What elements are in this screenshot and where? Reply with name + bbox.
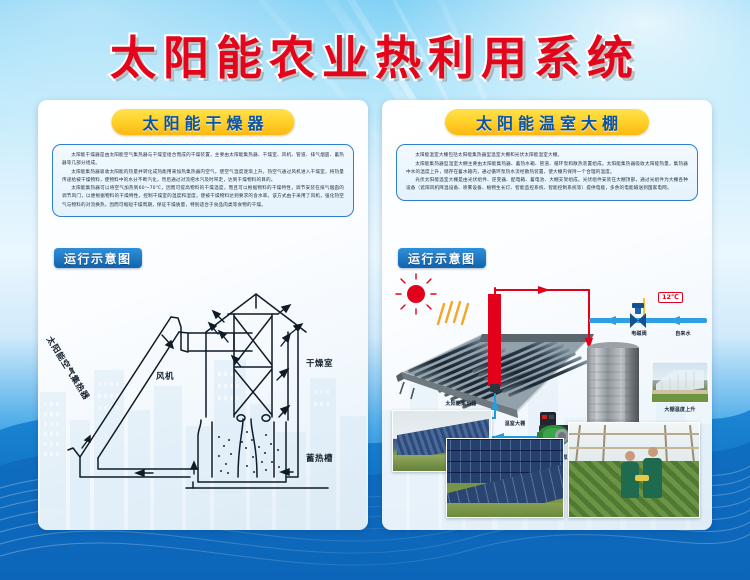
paragraph: 光伏太阳能温室大棚是由光伏组件、逆变器、配电箱、蓄电池、大棚支架组成。光伏组件安…	[406, 177, 688, 193]
label-tap-water: 自来水	[664, 330, 702, 337]
sun-icon	[396, 274, 436, 314]
section-header-greenhouse-diagram: 运行示意图	[398, 248, 486, 268]
temperature-badge: 12℃	[658, 292, 683, 303]
paragraph: 太阳能干燥器是由太阳能空气集热器与干燥室组合而成的干燥装置，主要由太阳能集热器、…	[62, 152, 344, 168]
photo-farmers-greenhouse	[568, 422, 700, 518]
description-box-greenhouse: 太阳能温室大棚包括太阳能集热器型温室大棚和光伏太阳能温室大棚。 太阳能集热器型温…	[396, 144, 698, 201]
paragraph: 太阳能集热器可以将空气加热到60～70℃，因而可提高物料的干燥温度，而且可以根据…	[62, 185, 344, 209]
poster-title-bar: 太阳能农业热利用系统	[0, 24, 750, 86]
photo-pv-array	[446, 438, 564, 518]
section-header-label: 运行示意图	[408, 250, 476, 267]
label-greenhouse-photo: 温室大棚	[490, 420, 540, 427]
hot-water-riser	[488, 294, 501, 386]
greenhouse-schematic: 太阳能集热器 采暖循环泵 电磁阀 自来水 大棚温度上升 温室大棚	[382, 272, 712, 530]
panel-title-greenhouse: 太阳能温室大棚	[471, 110, 623, 134]
panel-solar-greenhouse: 太阳能温室大棚 太阳能温室大棚包括太阳能集热器型温室大棚和光伏太阳能温室大棚。 …	[382, 100, 712, 530]
label-greenhouse-temp-rise: 大棚温度上升	[646, 406, 712, 413]
section-header-label: 运行示意图	[64, 250, 132, 267]
label-fan: 风机	[156, 370, 174, 382]
description-box-dryer: 太阳能干燥器是由太阳能空气集热器与干燥室组合而成的干燥装置，主要由太阳能集热器、…	[52, 144, 354, 217]
label-heat-storage-tank: 蓄热槽	[306, 452, 333, 464]
poster-background: 太阳能农业热利用系统	[0, 0, 750, 580]
dryer-schematic-svg	[38, 272, 368, 530]
dryer-schematic: 太阳能空气集热器 风机 干燥室 蓄热槽	[38, 272, 368, 530]
tap-water-pipe	[589, 298, 707, 328]
page-title: 太阳能农业热利用系统	[110, 22, 640, 88]
panel-title-badge-dryer: 太阳能干燥器	[111, 109, 294, 135]
paragraph: 太阳能集热器吸收太阳能的热量并转化成热能用来加热集热器内空气，使空气温度逐渐上升…	[62, 169, 344, 185]
panel-title-dryer: 太阳能干燥器	[137, 110, 268, 134]
label-solenoid-valve: 电磁阀	[620, 330, 658, 337]
solenoid-valve-icon	[630, 303, 646, 328]
section-header-dryer-diagram: 运行示意图	[54, 248, 142, 268]
greenhouse-photo-graphic	[652, 362, 708, 402]
paragraph: 太阳能集热器型温室大棚主要由太阳能集热器、蓄热水箱、管道、循环泵和散热装置组成。…	[406, 161, 688, 177]
label-drying-room: 干燥室	[306, 357, 333, 369]
panel-solar-dryer: 太阳能干燥器 太阳能干燥器是由太阳能空气集热器与干燥室组合而成的干燥装置，主要由…	[38, 100, 368, 530]
panel-title-badge-greenhouse: 太阳能温室大棚	[445, 109, 649, 135]
label-solar-collector: 太阳能集热器	[426, 400, 496, 407]
paragraph: 太阳能温室大棚包括太阳能集热器型温室大棚和光伏太阳能温室大棚。	[406, 152, 688, 160]
